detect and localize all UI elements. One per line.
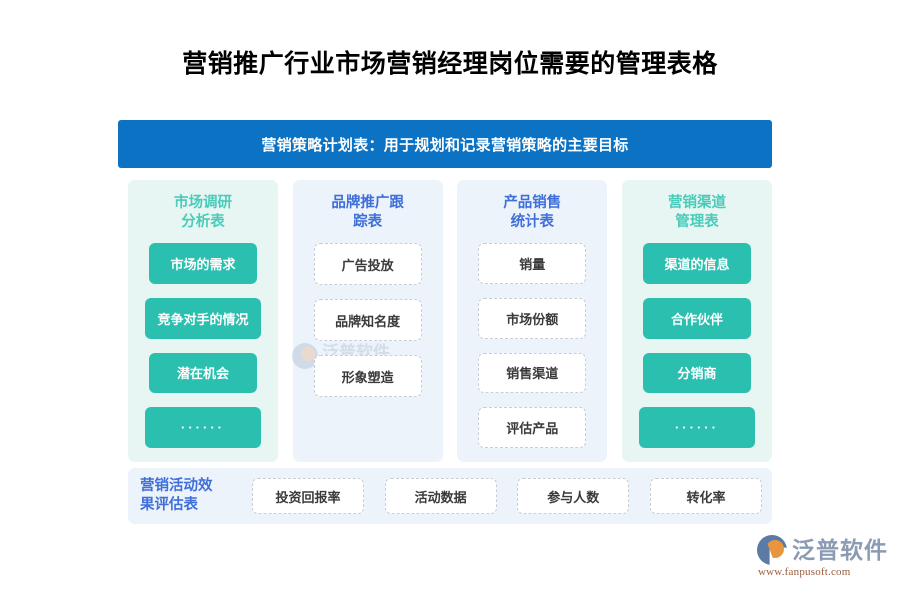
bottom-row-item-label: 活动数据	[415, 487, 467, 506]
column-item-label: 竞争对手的情况	[157, 309, 248, 328]
column-item-label: ······	[181, 421, 225, 434]
bottom-row-pills: 投资回报率活动数据参与人数转化率	[248, 478, 762, 514]
company-logo: 泛普软件 www.fanpusoft.com	[757, 535, 889, 587]
column-item[interactable]: 市场份额	[478, 298, 586, 339]
column-2: 品牌推广跟 踪表广告投放品牌知名度形象塑造	[293, 180, 443, 462]
page-title: 营销推广行业市场营销经理岗位需要的管理表格	[0, 44, 900, 80]
column-item-label: 销量	[519, 254, 545, 273]
column-item-more[interactable]: ······	[145, 407, 261, 448]
column-title: 品牌推广跟 踪表	[331, 194, 404, 232]
column-item[interactable]: 潜在机会	[149, 353, 257, 394]
bottom-row-item-label: 投资回报率	[275, 487, 340, 506]
bottom-row-label: 营销活动效 果评估表	[140, 477, 248, 515]
bottom-row-item[interactable]: 活动数据	[385, 478, 497, 514]
logo-url: www.fanpusoft.com	[758, 566, 851, 578]
column-item-label: 形象塑造	[342, 367, 394, 386]
column-item-label: 市场的需求	[170, 254, 235, 273]
column-title: 营销渠道 管理表	[668, 194, 726, 232]
bottom-row-item[interactable]: 转化率	[650, 478, 762, 514]
banner-marketing-strategy-plan: 营销策略计划表：用于规划和记录营销策略的主要目标	[118, 120, 772, 168]
column-3: 产品销售 统计表销量市场份额销售渠道评估产品	[457, 180, 607, 462]
column-item[interactable]: 渠道的信息	[643, 243, 751, 284]
column-item[interactable]: 市场的需求	[149, 243, 257, 284]
column-item[interactable]: 销量	[478, 243, 586, 284]
column-item[interactable]: 竞争对手的情况	[145, 298, 261, 339]
column-item[interactable]: 品牌知名度	[314, 299, 422, 341]
column-title: 产品销售 统计表	[503, 194, 561, 232]
column-item-label: 潜在机会	[177, 363, 229, 382]
bottom-row-item-label: 转化率	[686, 487, 725, 506]
column-item-label: 品牌知名度	[335, 311, 400, 330]
column-item[interactable]: 评估产品	[478, 407, 586, 448]
bottom-row-item[interactable]: 投资回报率	[252, 478, 364, 514]
column-item[interactable]: 广告投放	[314, 243, 422, 285]
column-item[interactable]: 销售渠道	[478, 353, 586, 394]
column-item-label: 市场份额	[506, 309, 558, 328]
bottom-row-item-label: 参与人数	[547, 487, 599, 506]
column-item-label: 分销商	[677, 363, 716, 382]
column-title: 市场调研 分析表	[174, 194, 232, 232]
column-item-label: 销售渠道	[506, 363, 558, 382]
column-item[interactable]: 形象塑造	[314, 355, 422, 397]
column-item-label: 评估产品	[506, 418, 558, 437]
banner-text: 营销策略计划表：用于规划和记录营销策略的主要目标	[261, 134, 628, 155]
logo-top: 泛普软件	[757, 535, 888, 565]
column-item[interactable]: 分销商	[643, 353, 751, 394]
column-item-label: 渠道的信息	[664, 254, 729, 273]
bottom-row-item[interactable]: 参与人数	[517, 478, 629, 514]
column-item[interactable]: 合作伙伴	[643, 298, 751, 339]
fanpu-mark-icon	[757, 535, 787, 565]
column-1: 市场调研 分析表市场的需求竞争对手的情况潜在机会······	[128, 180, 278, 462]
slide-canvas: 营销推广行业市场营销经理岗位需要的管理表格 营销策略计划表：用于规划和记录营销策…	[0, 0, 900, 600]
logo-name: 泛普软件	[792, 538, 888, 563]
column-item-more[interactable]: ······	[639, 407, 755, 448]
columns-container: 市场调研 分析表市场的需求竞争对手的情况潜在机会······品牌推广跟 踪表广告…	[128, 180, 772, 462]
column-item-label: ······	[675, 421, 719, 434]
bottom-row-effect-evaluation: 营销活动效 果评估表 投资回报率活动数据参与人数转化率	[128, 468, 772, 524]
column-item-label: 合作伙伴	[671, 309, 723, 328]
column-4: 营销渠道 管理表渠道的信息合作伙伴分销商······	[622, 180, 772, 462]
column-item-label: 广告投放	[342, 255, 394, 274]
